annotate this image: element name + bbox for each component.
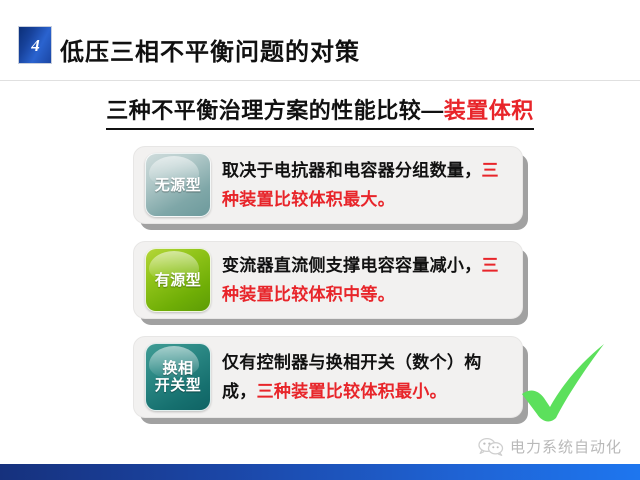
comparison-row-switching: 换相 开关型 仅有控制器与换相开关（数个）构成，三种装置比较体积最小。 (133, 336, 523, 418)
tag-label-line1: 无源型 (155, 177, 202, 194)
section-number-badge: 4 (18, 26, 52, 64)
tag-badge-passive: 无源型 (145, 153, 211, 217)
tag-label-line2: 开关型 (155, 377, 202, 394)
slide-footer: 电力系统自动化 (0, 432, 640, 480)
footer-brand: 电力系统自动化 (478, 436, 622, 457)
row-text-plain: 取决于电抗器和电容器分组数量， (222, 161, 482, 180)
wechat-icon (478, 437, 504, 456)
footer-brand-name: 电力系统自动化 (510, 436, 622, 457)
tag-badge-switching: 换相 开关型 (145, 343, 211, 411)
content-area: 无源型 取决于电抗器和电容器分组数量，三种装置比较体积最大。 有源型 变流器直流… (0, 140, 640, 440)
row-text-accent: 三种装置比较体积最小。 (257, 382, 447, 401)
comparison-text-active: 变流器直流侧支撑电容容量减小，三种装置比较体积中等。 (211, 251, 514, 309)
subtitle-main-text: 三种不平衡治理方案的性能比较— (106, 98, 444, 123)
footer-accent-bar (0, 464, 640, 480)
comparison-text-passive: 取决于电抗器和电容器分组数量，三种装置比较体积最大。 (211, 156, 514, 214)
header-divider (0, 80, 640, 81)
slide-subtitle: 三种不平衡治理方案的性能比较—装置体积 (0, 93, 640, 130)
comparison-row-passive: 无源型 取决于电抗器和电容器分组数量，三种装置比较体积最大。 (133, 146, 523, 224)
page-title: 低压三相不平衡问题的对策 (60, 32, 360, 67)
subtitle-accent-text: 装置体积 (444, 98, 534, 123)
subtitle-underline-wrap: 三种不平衡治理方案的性能比较—装置体积 (106, 93, 534, 130)
row-text-plain: 变流器直流侧支撑电容容量减小， (222, 256, 482, 275)
comparison-row-active: 有源型 变流器直流侧支撑电容容量减小，三种装置比较体积中等。 (133, 241, 523, 319)
slide-header: 4 低压三相不平衡问题的对策 (0, 0, 640, 81)
tag-badge-active: 有源型 (145, 248, 211, 312)
tag-label-line1: 换相 (162, 360, 193, 377)
tag-label-line1: 有源型 (155, 272, 202, 289)
section-number-text: 4 (30, 37, 40, 54)
comparison-text-switching: 仅有控制器与换相开关（数个）构成，三种装置比较体积最小。 (211, 348, 514, 406)
